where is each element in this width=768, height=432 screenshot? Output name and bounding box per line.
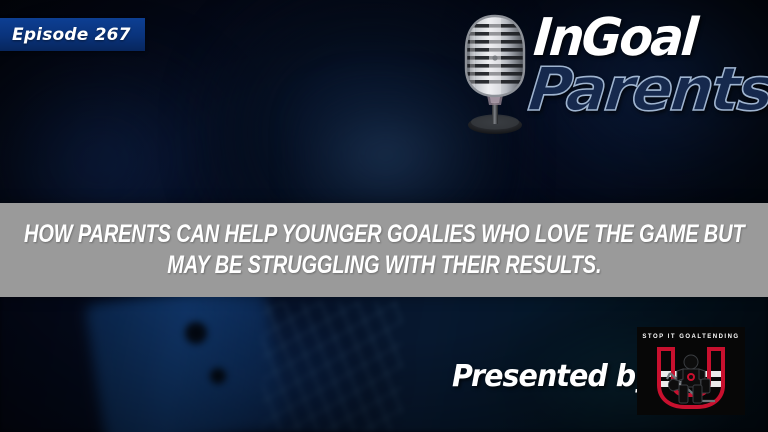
episode-badge: Episode 267 — [0, 18, 145, 51]
presented-by-label: Presented by — [452, 360, 653, 394]
podcast-episode-thumbnail: Episode 267 — [0, 0, 768, 432]
episode-badge-label: Episode 267 — [12, 25, 131, 45]
u-crest-goalie-icon — [637, 327, 745, 415]
brand-lockup: InGoal Parents — [450, 4, 760, 138]
sponsor-logo: STOP IT GOALTENDING — [637, 327, 745, 415]
episode-title-line-2: MAY BE STRUGGLING WITH THEIR RESULTS. — [167, 250, 601, 281]
brand-wordmark: InGoal Parents — [532, 12, 758, 136]
brand-parents-text: Parents — [526, 60, 768, 120]
vintage-microphone-icon — [456, 10, 534, 136]
sponsor-tagline: STOP IT GOALTENDING — [637, 334, 745, 340]
episode-title-banner: HOW PARENTS CAN HELP YOUNGER GOALIES WHO… — [0, 203, 768, 297]
episode-title-line-1: HOW PARENTS CAN HELP YOUNGER GOALIES WHO… — [24, 219, 744, 250]
